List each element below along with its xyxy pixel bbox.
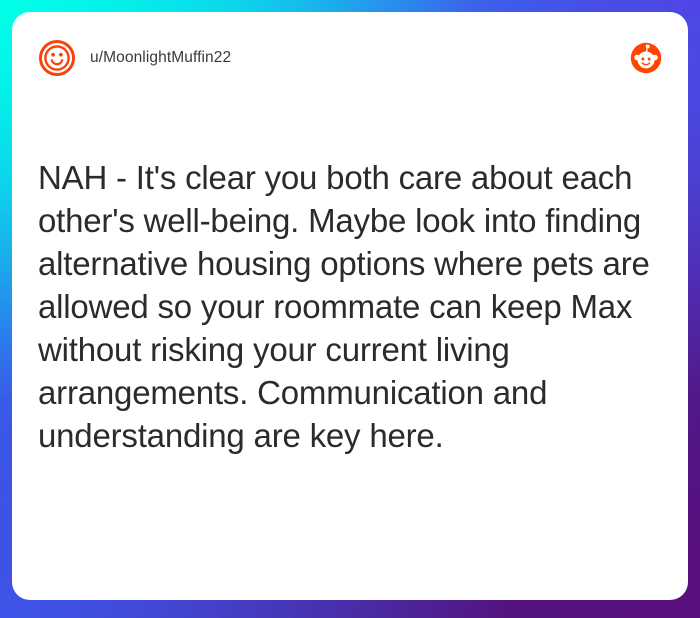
post-header: u/MoonlightMuffin22 [12, 12, 688, 104]
smiley-face-avatar-icon[interactable] [38, 39, 76, 77]
post-body-text: NAH - It's clear you both care about eac… [38, 156, 670, 457]
reddit-snoo-icon[interactable] [630, 42, 662, 74]
reddit-post-card: u/MoonlightMuffin22 NAH - It's clear you… [12, 12, 688, 600]
post-username[interactable]: u/MoonlightMuffin22 [90, 49, 231, 67]
